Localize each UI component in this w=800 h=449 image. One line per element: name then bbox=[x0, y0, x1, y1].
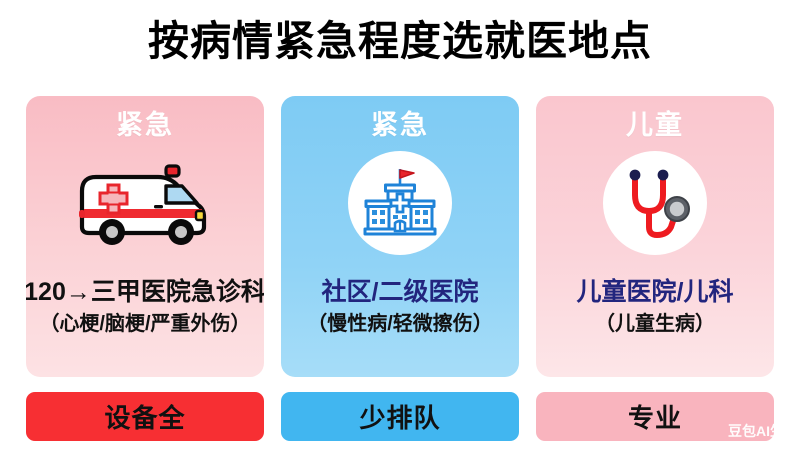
card-community-hospital[interactable]: 紧急 bbox=[281, 96, 519, 377]
badge-label: 少排队 bbox=[359, 398, 440, 435]
stethoscope-icon bbox=[603, 151, 707, 255]
card-sub-text: （心梗/脑梗/严重外伤） bbox=[39, 310, 250, 338]
cards-row: 紧急 bbox=[26, 96, 774, 377]
infographic-page: 按病情紧急程度选就医地点 紧急 bbox=[0, 0, 800, 449]
hospital-icon-wrapper bbox=[348, 148, 452, 258]
badge-equipment[interactable]: 设备全 bbox=[26, 392, 264, 441]
card-emergency-ambulance[interactable]: 紧急 bbox=[26, 96, 264, 377]
stethoscope-icon-wrapper bbox=[603, 148, 707, 258]
badges-row: 设备全 少排队 专业 bbox=[26, 392, 774, 441]
badge-label: 设备全 bbox=[104, 398, 185, 435]
card-header-label: 紧急 bbox=[116, 108, 174, 142]
card-header-label: 儿童 bbox=[626, 108, 684, 142]
card-main-text: 社区/二级医院 bbox=[322, 276, 479, 308]
card-main-text: 儿童医院/儿科 bbox=[577, 276, 734, 308]
card-children-hospital[interactable]: 儿童 儿童医院/儿科 bbox=[536, 96, 774, 377]
card-sub-text: （慢性病/轻微擦伤） bbox=[307, 310, 493, 338]
page-title: 按病情紧急程度选就医地点 bbox=[0, 14, 800, 68]
ambulance-icon bbox=[70, 148, 220, 258]
badge-label: 专业 bbox=[628, 398, 682, 435]
card-main-text: 120→三甲医院急诊科 bbox=[26, 276, 264, 308]
card-header-label: 紧急 bbox=[371, 108, 429, 142]
hospital-building-icon bbox=[348, 151, 452, 255]
badge-queue[interactable]: 少排队 bbox=[281, 392, 519, 441]
card-sub-text: （儿童生病） bbox=[595, 310, 715, 338]
watermark-label: 豆包AI生成 bbox=[728, 421, 798, 441]
